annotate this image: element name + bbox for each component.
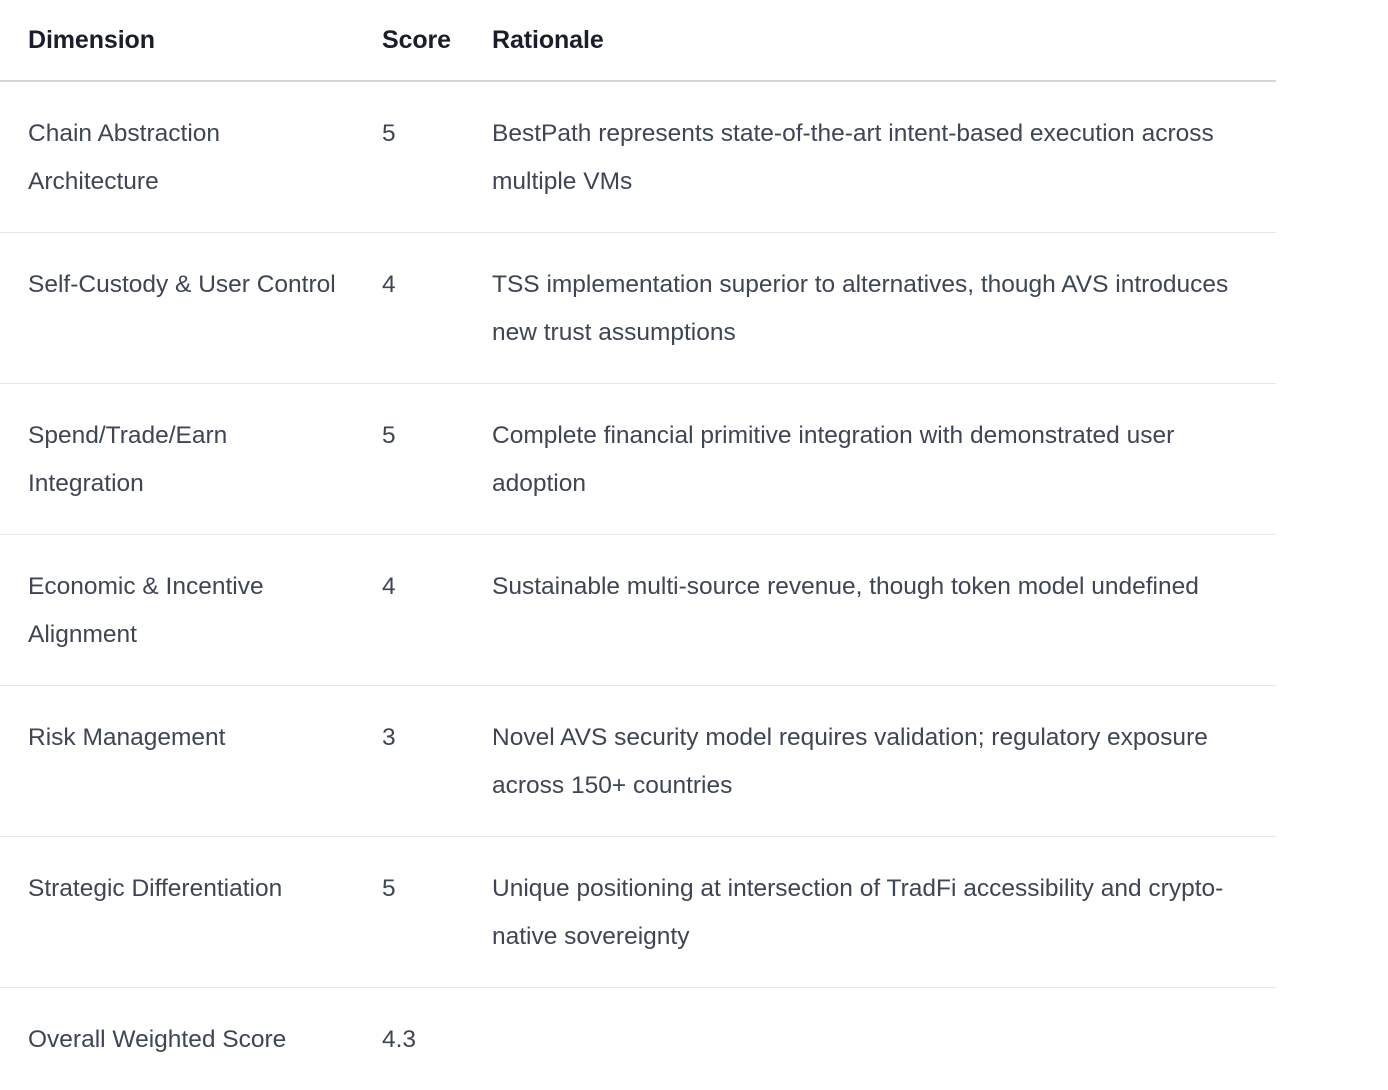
cell-dimension-total: Overall Weighted Score — [0, 988, 378, 1090]
table-row: Strategic Differentiation 5 Unique posit… — [0, 837, 1276, 988]
cell-score: 4 — [378, 535, 488, 686]
cell-score-total: 4.3 — [378, 988, 488, 1090]
cell-score: 4 — [378, 233, 488, 384]
table-row: Chain Abstraction Architecture 5 BestPat… — [0, 81, 1276, 233]
cell-dimension: Strategic Differentiation — [0, 837, 378, 988]
table-row: Self-Custody & User Control 4 TSS implem… — [0, 233, 1276, 384]
table-row: Economic & Incentive Alignment 4 Sustain… — [0, 535, 1276, 686]
table-header: Dimension Score Rationale — [0, 0, 1276, 81]
column-header-score: Score — [378, 0, 488, 81]
table-row: Spend/Trade/Earn Integration 5 Complete … — [0, 384, 1276, 535]
table-header-row: Dimension Score Rationale — [0, 0, 1276, 81]
cell-rationale: BestPath represents state-of-the-art int… — [488, 81, 1276, 233]
evaluation-scorecard-table: Dimension Score Rationale Chain Abstract… — [0, 0, 1276, 1090]
cell-score: 3 — [378, 686, 488, 837]
table-row: Risk Management 3 Novel AVS security mod… — [0, 686, 1276, 837]
cell-rationale: TSS implementation superior to alternati… — [488, 233, 1276, 384]
cell-rationale: Sustainable multi-source revenue, though… — [488, 535, 1276, 686]
column-header-dimension: Dimension — [0, 0, 378, 81]
cell-dimension: Economic & Incentive Alignment — [0, 535, 378, 686]
column-header-rationale: Rationale — [488, 0, 1276, 81]
cell-dimension: Self-Custody & User Control — [0, 233, 378, 384]
cell-score: 5 — [378, 81, 488, 233]
cell-score: 5 — [378, 384, 488, 535]
cell-rationale: Unique positioning at intersection of Tr… — [488, 837, 1276, 988]
cell-rationale: Novel AVS security model requires valida… — [488, 686, 1276, 837]
cell-score: 5 — [378, 837, 488, 988]
cell-dimension: Risk Management — [0, 686, 378, 837]
scorecard-container: Dimension Score Rationale Chain Abstract… — [0, 0, 1388, 976]
cell-rationale-total — [488, 988, 1276, 1090]
table-body: Chain Abstraction Architecture 5 BestPat… — [0, 81, 1276, 1090]
table-row-total: Overall Weighted Score 4.3 — [0, 988, 1276, 1090]
cell-rationale: Complete financial primitive integration… — [488, 384, 1276, 535]
cell-dimension: Chain Abstraction Architecture — [0, 81, 378, 233]
cell-dimension: Spend/Trade/Earn Integration — [0, 384, 378, 535]
